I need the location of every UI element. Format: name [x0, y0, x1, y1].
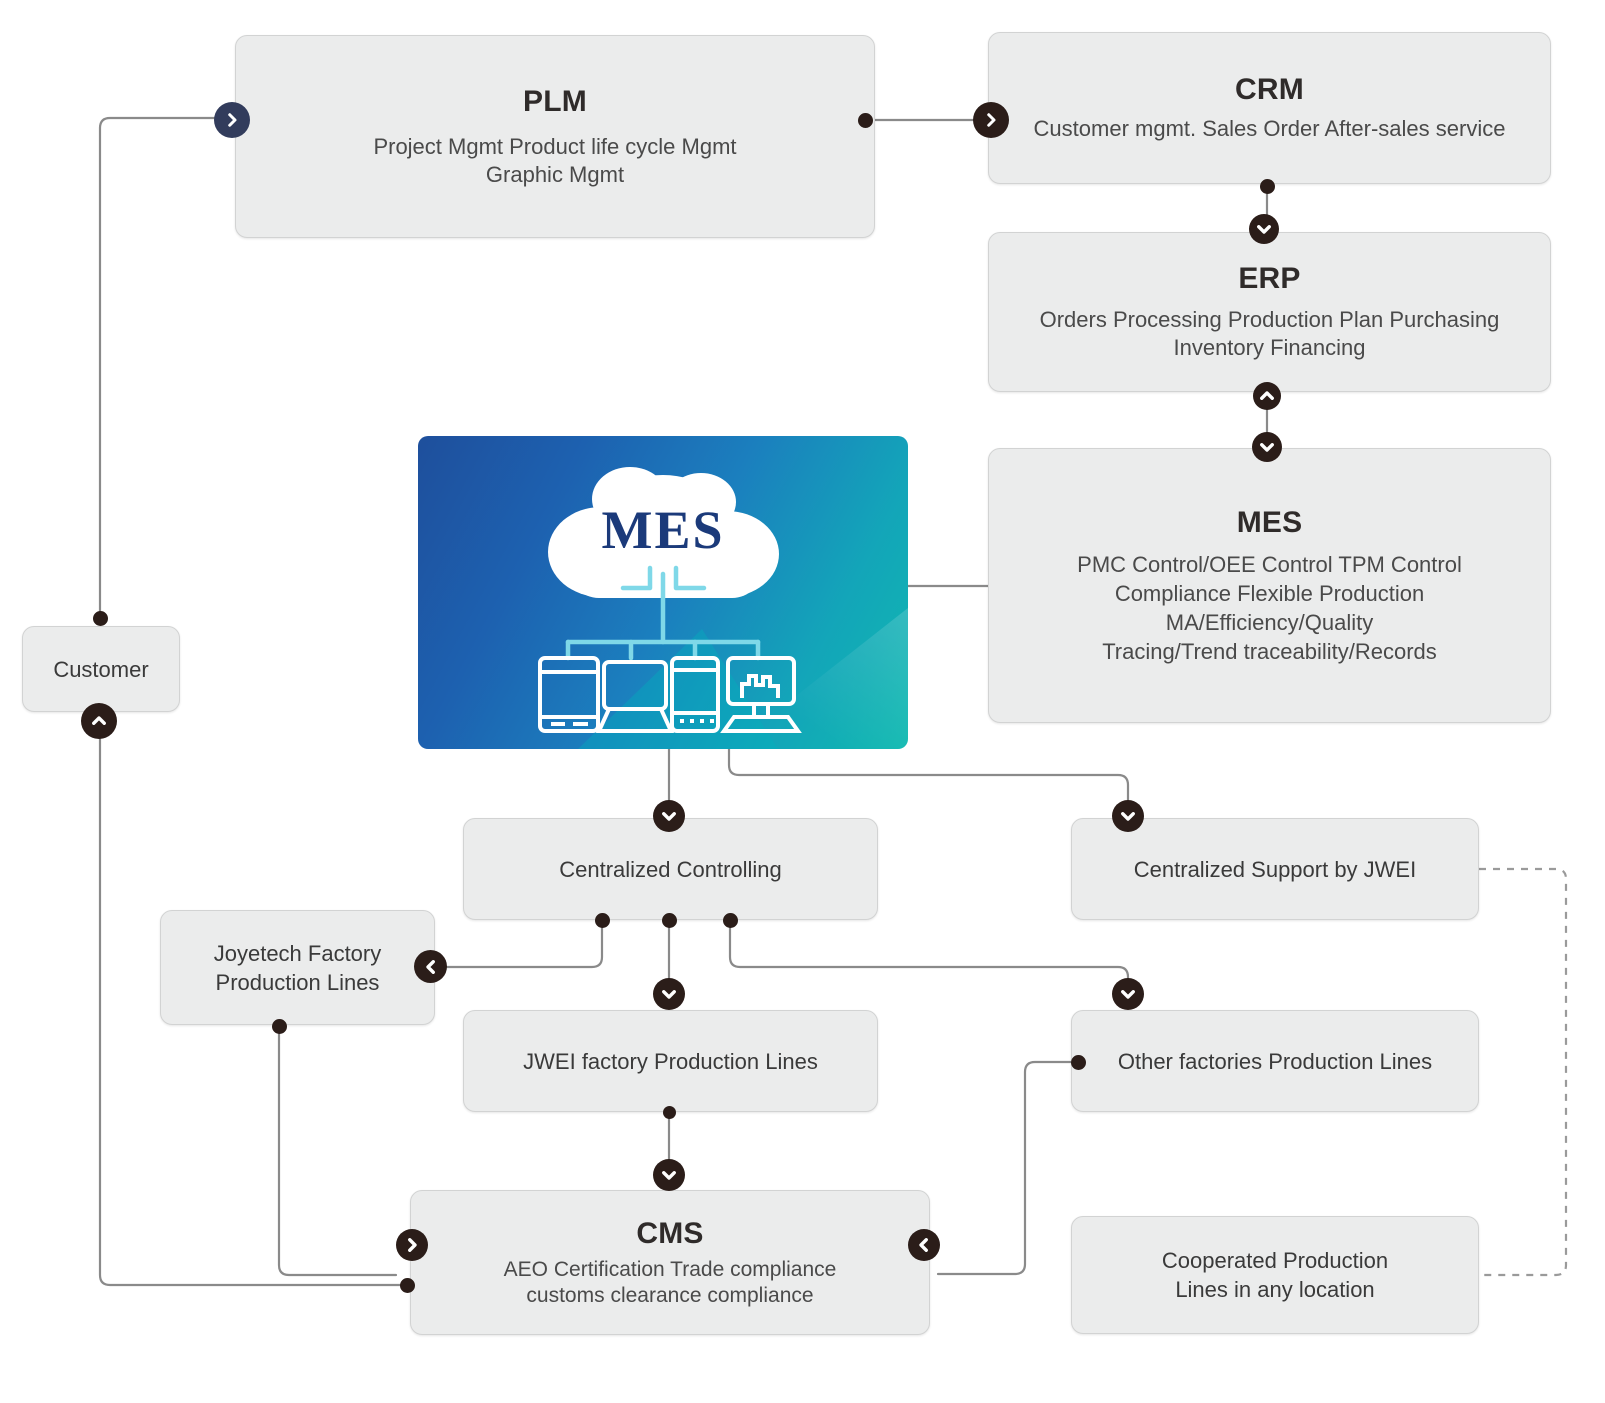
cms-title: CMS [636, 1217, 703, 1251]
cms-subtitle: AEO Certification Trade compliance custo… [504, 1257, 837, 1309]
plm-title: PLM [523, 85, 587, 119]
node-joyetech-production-lines[interactable]: Joyetech Factory Production Lines [160, 910, 435, 1025]
chevron-down-icon-to-erp[interactable] [1249, 214, 1279, 244]
chevron-right-icon-to-plm[interactable] [214, 102, 250, 138]
chevron-down-icon-to-centralized-controlling[interactable] [653, 800, 685, 832]
centralized-controlling-label: Centralized Controlling [559, 855, 782, 884]
crm-line-1: Customer mgmt. Sales Order After-sales s… [1034, 115, 1506, 143]
other-label: Other factories Production Lines [1118, 1047, 1432, 1076]
node-other-production-lines[interactable]: Other factories Production Lines [1071, 1010, 1479, 1112]
mes-line-1: PMC Control/OEE Control TPM Control [1077, 550, 1462, 579]
cms-line-1: AEO Certification Trade compliance [504, 1257, 837, 1283]
mes-line-4: Tracing/Trend traceability/Records [1077, 637, 1462, 666]
jwei-label: JWEI factory Production Lines [523, 1047, 818, 1076]
chevron-down-icon-to-cms[interactable] [653, 1159, 685, 1191]
erp-line-1: Orders Processing Production Plan Purcha… [1040, 306, 1500, 334]
connector-dot-icon-plm-crm [858, 113, 873, 128]
node-centralized-support[interactable]: Centralized Support by JWEI [1071, 818, 1479, 920]
plm-subtitle: Project Mgmt Product life cycle Mgmt Gra… [373, 133, 736, 189]
node-crm[interactable]: CRM Customer mgmt. Sales Order After-sal… [988, 32, 1551, 184]
erp-subtitle: Orders Processing Production Plan Purcha… [1040, 306, 1500, 362]
connector-dot-icon-other-left [1071, 1055, 1086, 1070]
chevron-down-icon-to-jwei-lines[interactable] [653, 978, 685, 1010]
chevron-up-icon-customer-bottom[interactable] [81, 703, 117, 739]
chevron-up-icon-erp-bottom[interactable] [1253, 382, 1281, 410]
mes-cloud-network-icon: MES [418, 436, 908, 749]
architecture-diagram: PLM Project Mgmt Product life cycle Mgmt… [0, 0, 1605, 1403]
connector-dot-icon-crm-bottom [1260, 179, 1275, 194]
cooperated-label-line-1: Cooperated Production [1162, 1246, 1388, 1275]
node-erp[interactable]: ERP Orders Processing Production Plan Pu… [988, 232, 1551, 392]
customer-label: Customer [53, 655, 148, 684]
centralized-support-label: Centralized Support by JWEI [1134, 855, 1416, 884]
connector-dot-icon-cms-left-lower [400, 1278, 415, 1293]
connector-dot-icon-cc-middle [662, 913, 677, 928]
chevron-down-icon-to-other-lines[interactable] [1112, 978, 1144, 1010]
chevron-left-icon-to-cms[interactable] [908, 1229, 940, 1261]
chevron-left-icon-to-joyetech[interactable] [414, 950, 447, 983]
node-cms[interactable]: CMS AEO Certification Trade compliance c… [410, 1190, 930, 1335]
erp-line-2: Inventory Financing [1040, 334, 1500, 362]
chevron-down-icon-to-centralized-support[interactable] [1112, 800, 1144, 832]
node-mes-details[interactable]: MES PMC Control/OEE Control TPM Control … [988, 448, 1551, 723]
connector-dot-icon-jwei-bottom [663, 1106, 676, 1119]
joyetech-label-line-1: Joyetech Factory [214, 939, 382, 968]
cooperated-label-line-2: Lines in any location [1175, 1275, 1374, 1304]
connector-dot-icon-cc-right [723, 913, 738, 928]
chevron-right-icon-to-crm[interactable] [973, 102, 1009, 138]
crm-title: CRM [1235, 73, 1304, 107]
erp-title: ERP [1238, 262, 1300, 296]
mes-line-2: Compliance Flexible Production [1077, 579, 1462, 608]
plm-line-1: Project Mgmt Product life cycle Mgmt [373, 133, 736, 161]
plm-line-2: Graphic Mgmt [373, 161, 736, 189]
mes-title: MES [1237, 506, 1303, 540]
mes-subtitle: PMC Control/OEE Control TPM Control Comp… [1077, 550, 1462, 666]
connector-dot-icon-cc-left [595, 913, 610, 928]
chevron-right-icon-to-cms[interactable] [396, 1229, 428, 1261]
connector-dot-icon-customer-top [93, 611, 108, 626]
node-jwei-production-lines[interactable]: JWEI factory Production Lines [463, 1010, 878, 1112]
node-plm[interactable]: PLM Project Mgmt Product life cycle Mgmt… [235, 35, 875, 238]
mes-line-3: MA/Efficiency/Quality [1077, 608, 1462, 637]
chevron-down-icon-to-mes[interactable] [1252, 432, 1282, 462]
node-customer[interactable]: Customer [22, 626, 180, 712]
node-cooperated-production-lines[interactable]: Cooperated Production Lines in any locat… [1071, 1216, 1479, 1334]
node-centralized-controlling[interactable]: Centralized Controlling [463, 818, 878, 920]
svg-text:MES: MES [601, 500, 724, 560]
joyetech-label-line-2: Production Lines [216, 968, 380, 997]
mes-illustration-card[interactable]: MES [418, 436, 908, 749]
cms-line-2: customs clearance compliance [504, 1283, 837, 1309]
connector-dot-icon-joyetech-bottom [272, 1019, 287, 1034]
